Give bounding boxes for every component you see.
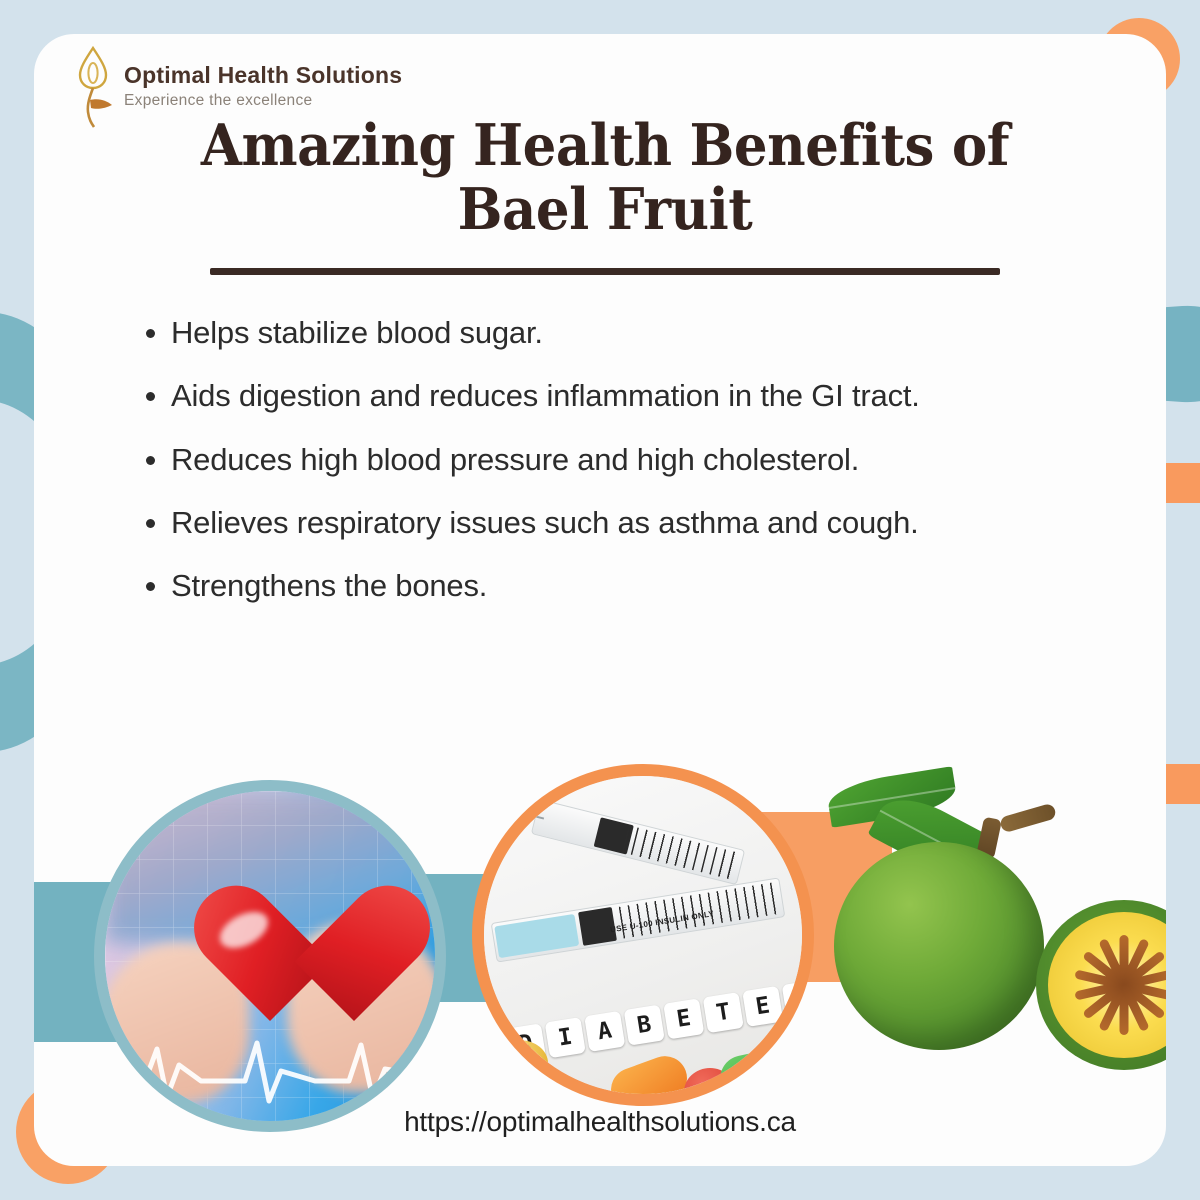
bead-letter: E — [663, 998, 704, 1039]
content-card: Optimal Health Solutions Experience the … — [34, 34, 1166, 1166]
list-item: Reduces high blood pressure and high cho… — [146, 433, 1126, 486]
image-row: USE U-100 INSULIN ONLY D I A B E T E S — [34, 734, 1166, 1114]
bead-letter: B — [624, 1005, 665, 1046]
fruit-stem-horizontal — [999, 803, 1057, 834]
bullet-dot-icon — [146, 456, 155, 465]
list-item: Helps stabilize blood sugar. — [146, 306, 1126, 359]
benefit-text: Aids digestion and reduces inflammation … — [171, 369, 1126, 422]
page-title: Amazing Health Benefits of Bael Fruit — [144, 114, 1066, 275]
benefit-text: Relieves respiratory issues such as asth… — [171, 496, 1126, 549]
bead-letter: T — [703, 992, 744, 1033]
logo-title: Optimal Health Solutions — [124, 64, 402, 87]
diabetes-supplies-photo: USE U-100 INSULIN ONLY D I A B E T E S — [472, 764, 814, 1106]
pill-yellow — [490, 1040, 548, 1086]
benefits-list: Helps stabilize blood sugar. Aids digest… — [146, 306, 1126, 623]
website-url[interactable]: https://optimalhealthsolutions.ca — [34, 1106, 1166, 1138]
bullet-dot-icon — [146, 329, 155, 338]
flame-figure-logo-mark — [70, 44, 116, 128]
benefit-text: Helps stabilize blood sugar. — [171, 306, 1126, 359]
bullet-dot-icon — [146, 392, 155, 401]
heart-in-hands-photo — [94, 780, 446, 1132]
bead-letter: E — [742, 986, 783, 1027]
list-item: Strengthens the bones. — [146, 559, 1126, 612]
poster-canvas: Optimal Health Solutions Experience the … — [0, 0, 1200, 1200]
red-heart-icon — [190, 889, 350, 1037]
bael-fruit-half — [1036, 900, 1166, 1070]
bead-letter: I — [545, 1017, 586, 1058]
heading-text: Amazing Health Benefits of Bael Fruit — [176, 114, 1033, 242]
bullet-dot-icon — [146, 519, 155, 528]
list-item: Relieves respiratory issues such as asth… — [146, 496, 1126, 549]
benefit-text: Reduces high blood pressure and high cho… — [171, 433, 1126, 486]
list-item: Aids digestion and reduces inflammation … — [146, 369, 1126, 422]
ecg-line-icon — [105, 1031, 435, 1105]
bullet-dot-icon — [146, 582, 155, 591]
title-divider — [210, 268, 1000, 275]
logo-tagline: Experience the excellence — [124, 93, 402, 109]
bael-fruit-whole — [834, 842, 1044, 1050]
bael-fruit-photo — [804, 752, 1166, 1112]
benefit-text: Strengthens the bones. — [171, 559, 1126, 612]
bead-letter: A — [584, 1011, 625, 1052]
